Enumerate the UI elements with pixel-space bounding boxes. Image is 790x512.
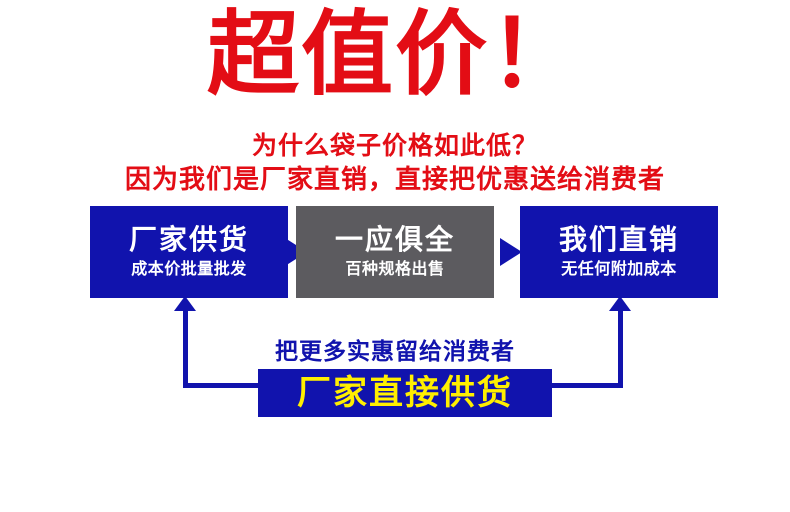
bottom-caption: 把更多实惠留给消费者 — [0, 332, 790, 366]
step-box-description: 百种规格出售 — [345, 259, 444, 280]
poster-subtitle-answer: 因为我们是厂家直销，直接把优惠送给消费者 — [0, 159, 790, 196]
arrow-right-icon — [500, 238, 522, 266]
step-box-description: 成本价批量批发 — [131, 259, 247, 280]
step-box-title: 我们直销 — [559, 224, 679, 255]
arrow-connector-right — [549, 383, 623, 388]
step-box-title: 一应俱全 — [335, 224, 455, 255]
step-box-description: 无任何附加成本 — [561, 259, 677, 280]
poster-subtitle-question: 为什么袋子价格如此低？ — [0, 126, 790, 162]
step-box-title: 厂家供货 — [129, 224, 249, 255]
arrow-connector-left — [183, 383, 261, 388]
step-box-factory-supply: 厂家供货 成本价批量批发 — [90, 206, 288, 298]
bottom-banner: 厂家直接供货 — [258, 369, 552, 417]
poster-headline: 超值价！ — [0, 8, 790, 102]
step-box-direct-sales: 我们直销 无任何附加成本 — [520, 206, 718, 298]
bottom-banner-text: 厂家直接供货 — [297, 376, 513, 410]
step-box-full-range: 一应俱全 百种规格出售 — [296, 206, 494, 298]
process-step-row: 厂家供货 成本价批量批发 一应俱全 百种规格出售 我们直销 无任何附加成本 — [0, 206, 790, 298]
promotional-poster: 超值价！ 为什么袋子价格如此低？ 因为我们是厂家直销，直接把优惠送给消费者 厂家… — [0, 0, 790, 512]
